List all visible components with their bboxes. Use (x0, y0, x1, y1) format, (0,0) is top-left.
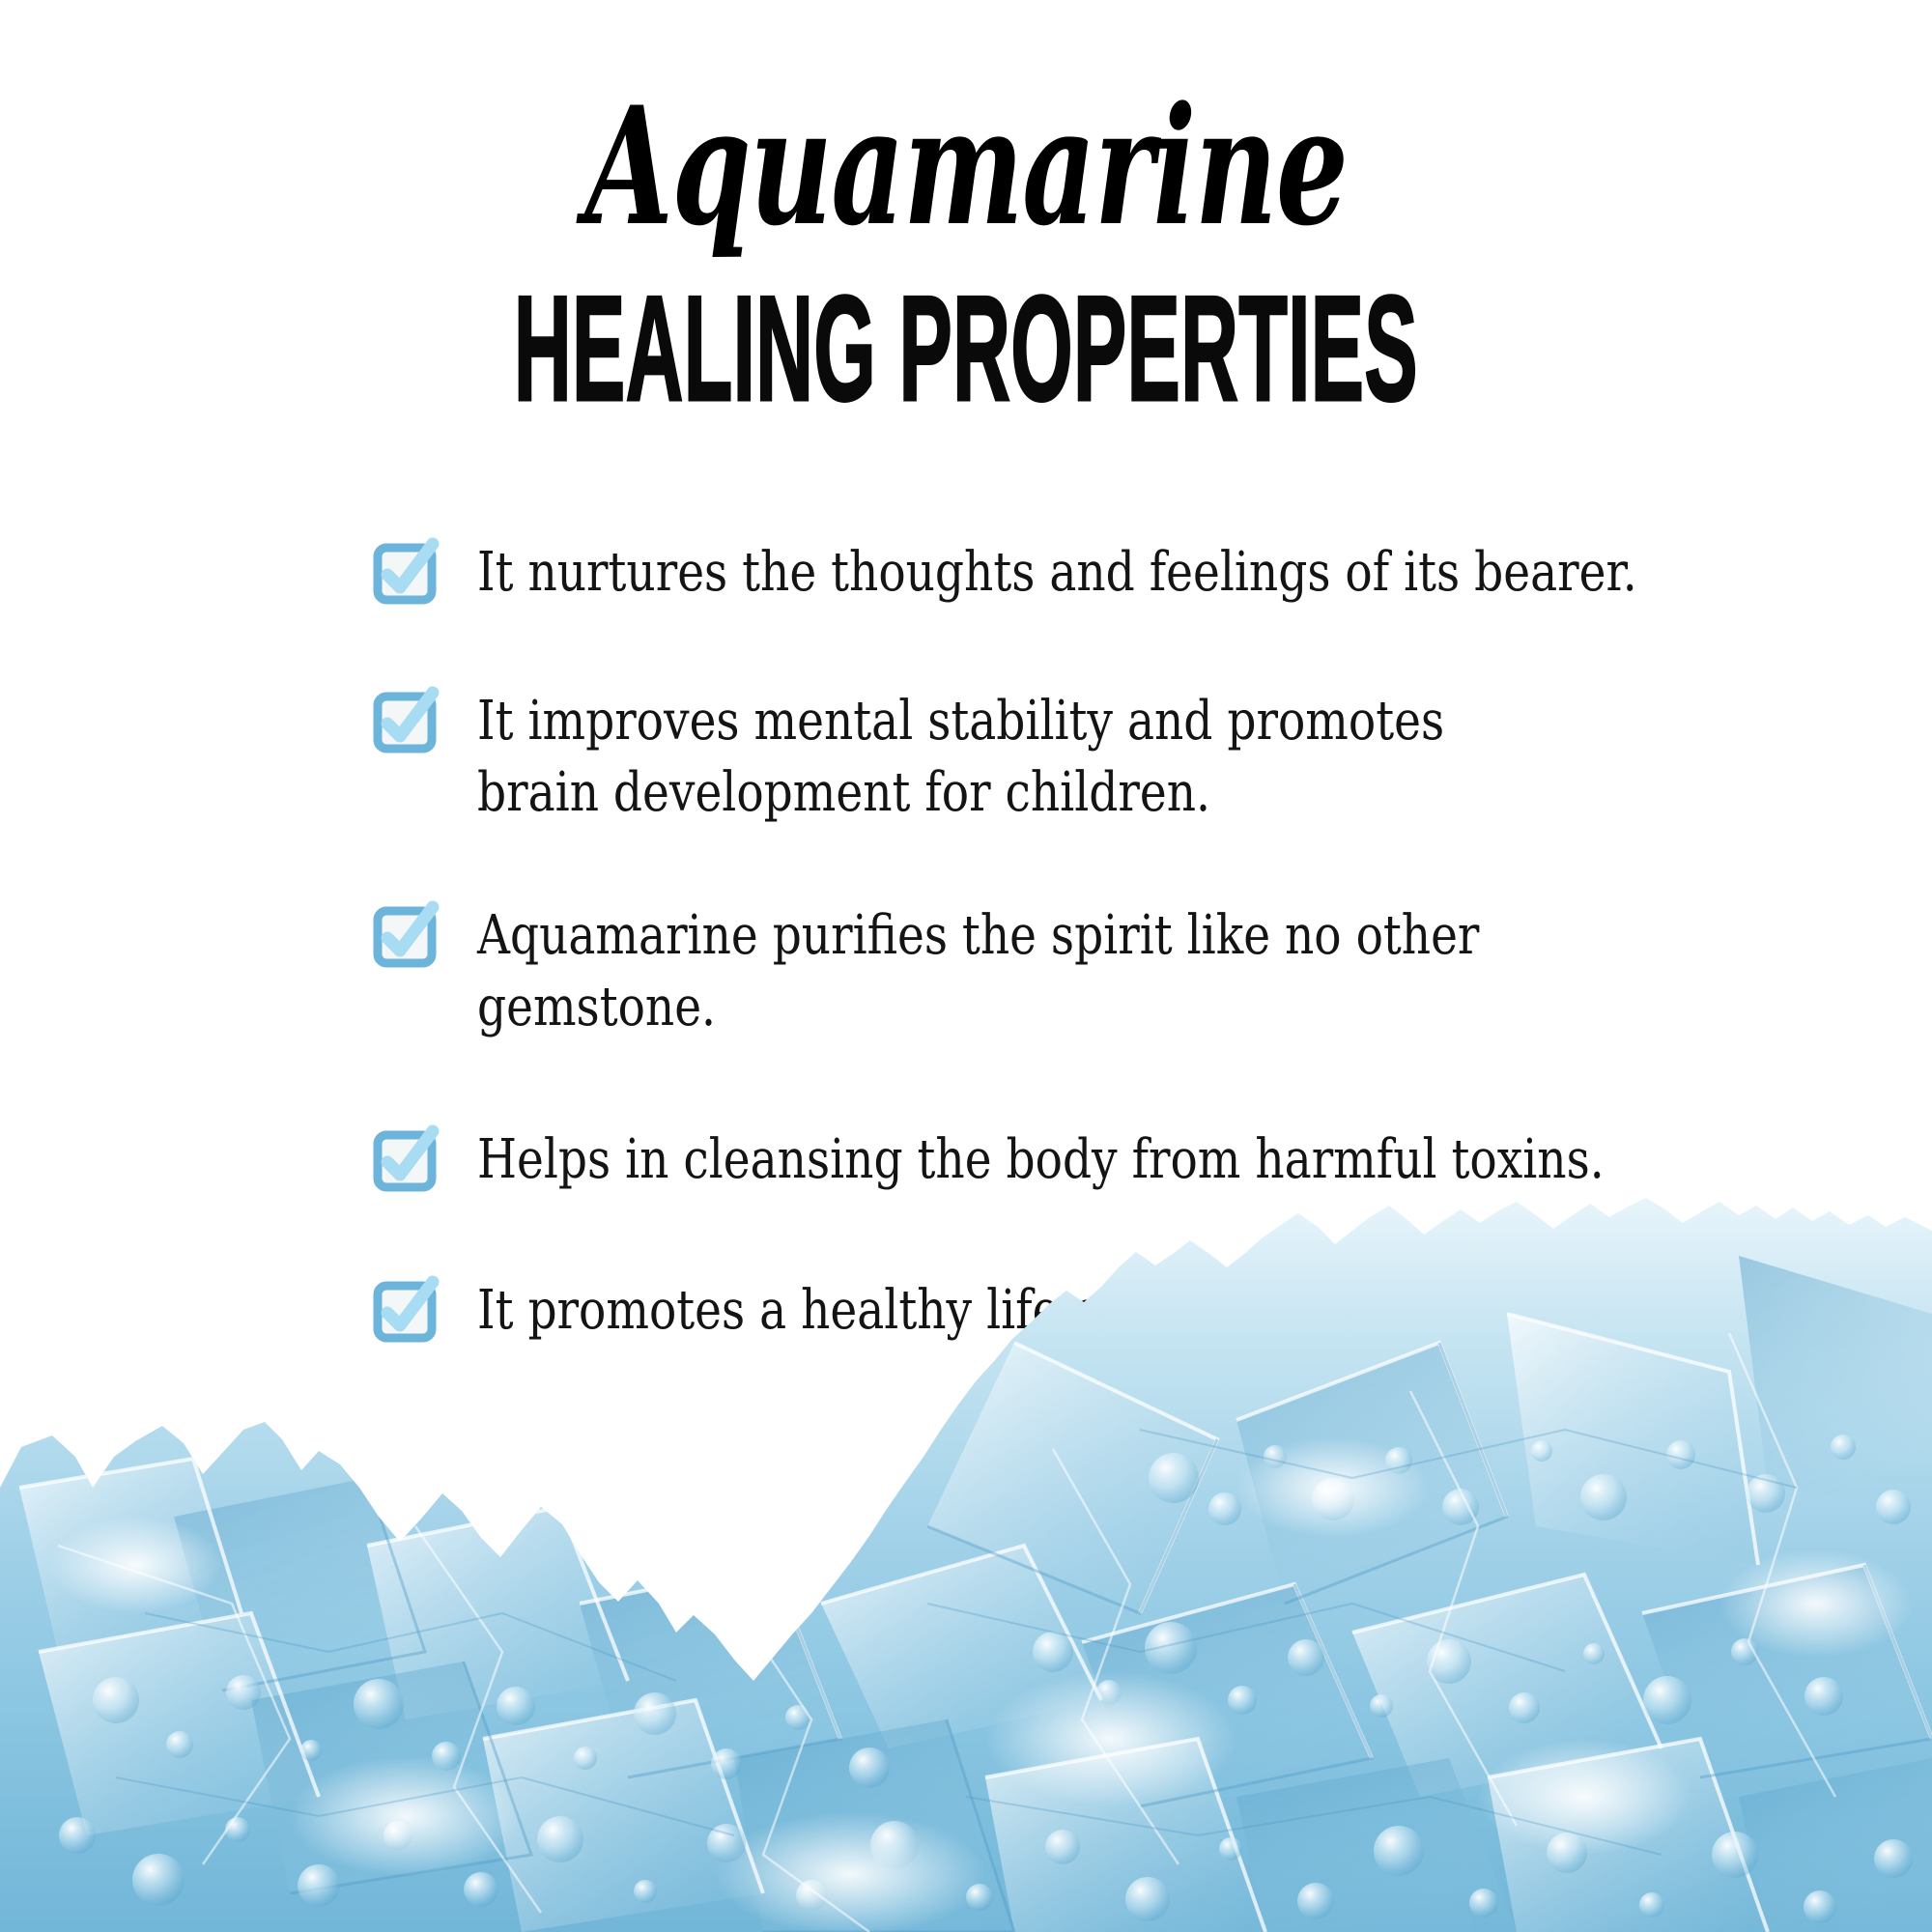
list-item: Aquamarine purifies the spirit like no o… (375, 900, 1882, 1043)
list-item-label: It nurtures the thoughts and feelings of… (477, 537, 1637, 609)
list-item: It improves mental stability and promote… (375, 686, 1882, 829)
list-item: It nurtures the thoughts and feelings of… (375, 537, 1882, 609)
checkbox-checked-icon (375, 543, 435, 603)
page-subtitle: HEALING PROPERTIES (420, 247, 1512, 423)
page-title: Aquamarine (290, 0, 1642, 247)
checkbox-checked-icon (375, 692, 435, 752)
crushed-ice-cubes-photo (0, 1198, 1932, 1932)
list-item: Helps in cleansing the body from harmful… (375, 1124, 1882, 1196)
header: Aquamarine HEALING PROPERTIES (0, 0, 1932, 413)
list-item-label: It improves mental stability and promote… (477, 686, 1444, 829)
list-item-label: Helps in cleansing the body from harmful… (477, 1124, 1605, 1196)
checkbox-checked-icon (375, 1130, 435, 1190)
list-item-label: Aquamarine purifies the spirit like no o… (477, 900, 1657, 1043)
poster-canvas: Aquamarine HEALING PROPERTIES It nurture… (0, 0, 1932, 1932)
checkbox-checked-icon (375, 906, 435, 966)
